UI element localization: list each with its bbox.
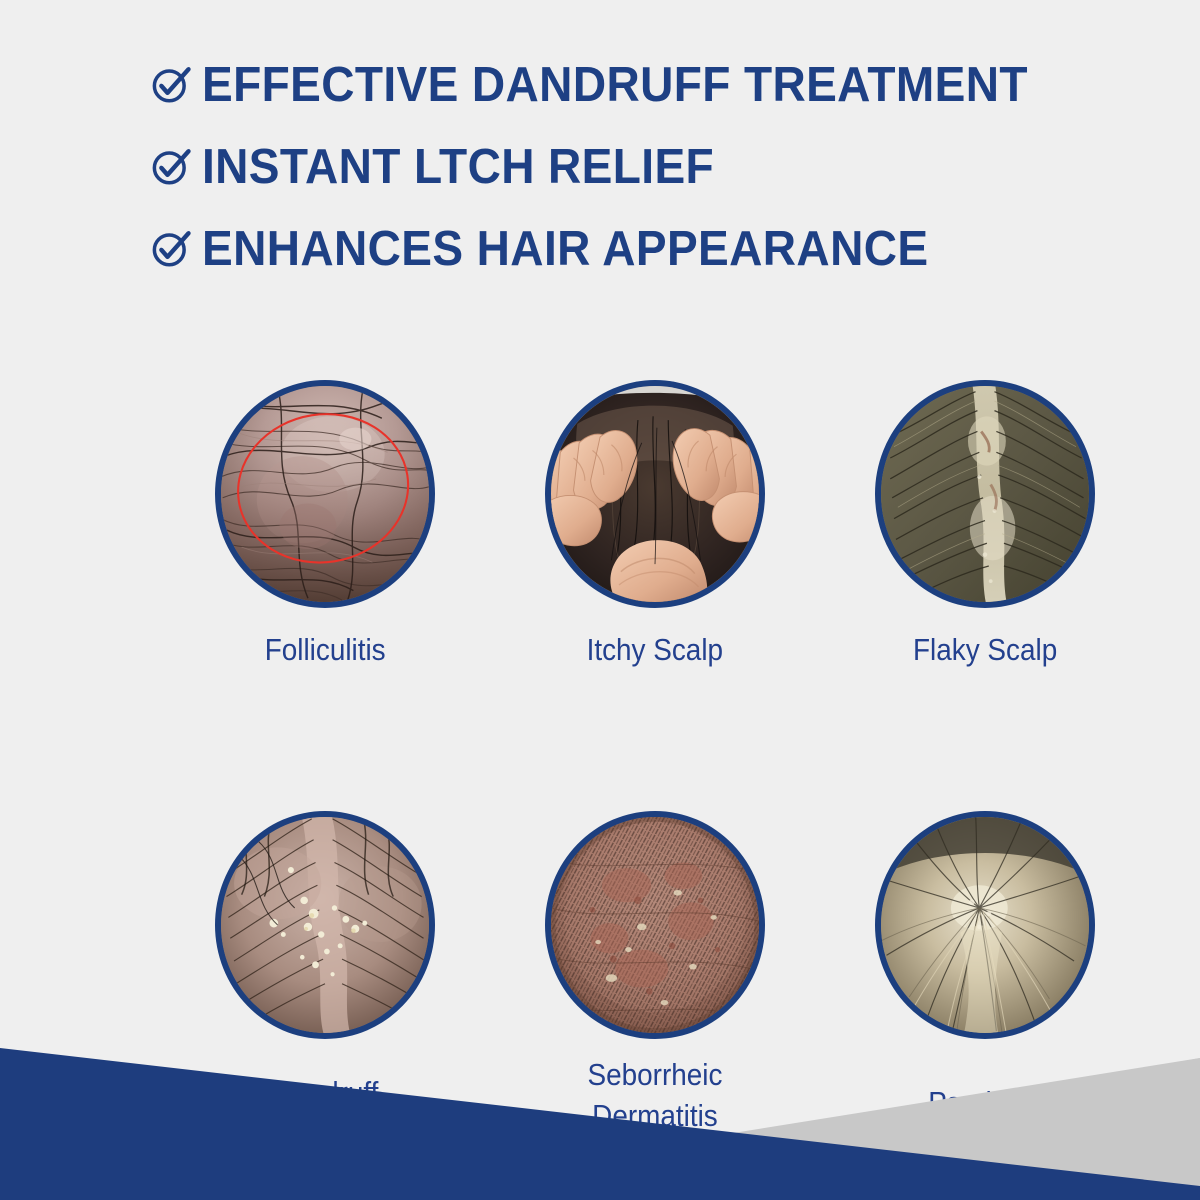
check-circle-icon: [150, 64, 192, 106]
conditions-row-1: Folliculitis: [0, 380, 1200, 671]
condition-label: Flaky Scalp: [913, 630, 1057, 671]
condition-cell-flaky-scalp: Flaky Scalp: [820, 380, 1150, 671]
benefit-label: INSTANT LTCH RELIEF: [202, 143, 714, 192]
check-circle-icon: [150, 146, 192, 188]
check-circle-icon: [150, 228, 192, 270]
benefit-label: ENHANCES HAIR APPEARANCE: [202, 225, 928, 274]
benefit-row: ENHANCES HAIR APPEARANCE: [150, 208, 1110, 290]
condition-label: Itchy Scalp: [587, 630, 723, 671]
scalp-flaky-parting-photo: [875, 380, 1095, 608]
scalp-folliculitis-photo: [215, 380, 435, 608]
benefit-label: EFFECTIVE DANDRUFF TREATMENT: [202, 61, 1028, 110]
benefit-row: EFFECTIVE DANDRUFF TREATMENT: [150, 44, 1110, 126]
bottom-decorative-banner: [0, 1000, 1200, 1200]
condition-cell-itchy-scalp: Itchy Scalp: [490, 380, 820, 671]
benefits-headline-list: EFFECTIVE DANDRUFF TREATMENT INSTANT LTC…: [150, 44, 1110, 290]
scalp-itchy-hands-photo: [545, 380, 765, 608]
condition-label: Folliculitis: [265, 630, 386, 671]
condition-cell-folliculitis: Folliculitis: [160, 380, 490, 671]
benefit-row: INSTANT LTCH RELIEF: [150, 126, 1110, 208]
